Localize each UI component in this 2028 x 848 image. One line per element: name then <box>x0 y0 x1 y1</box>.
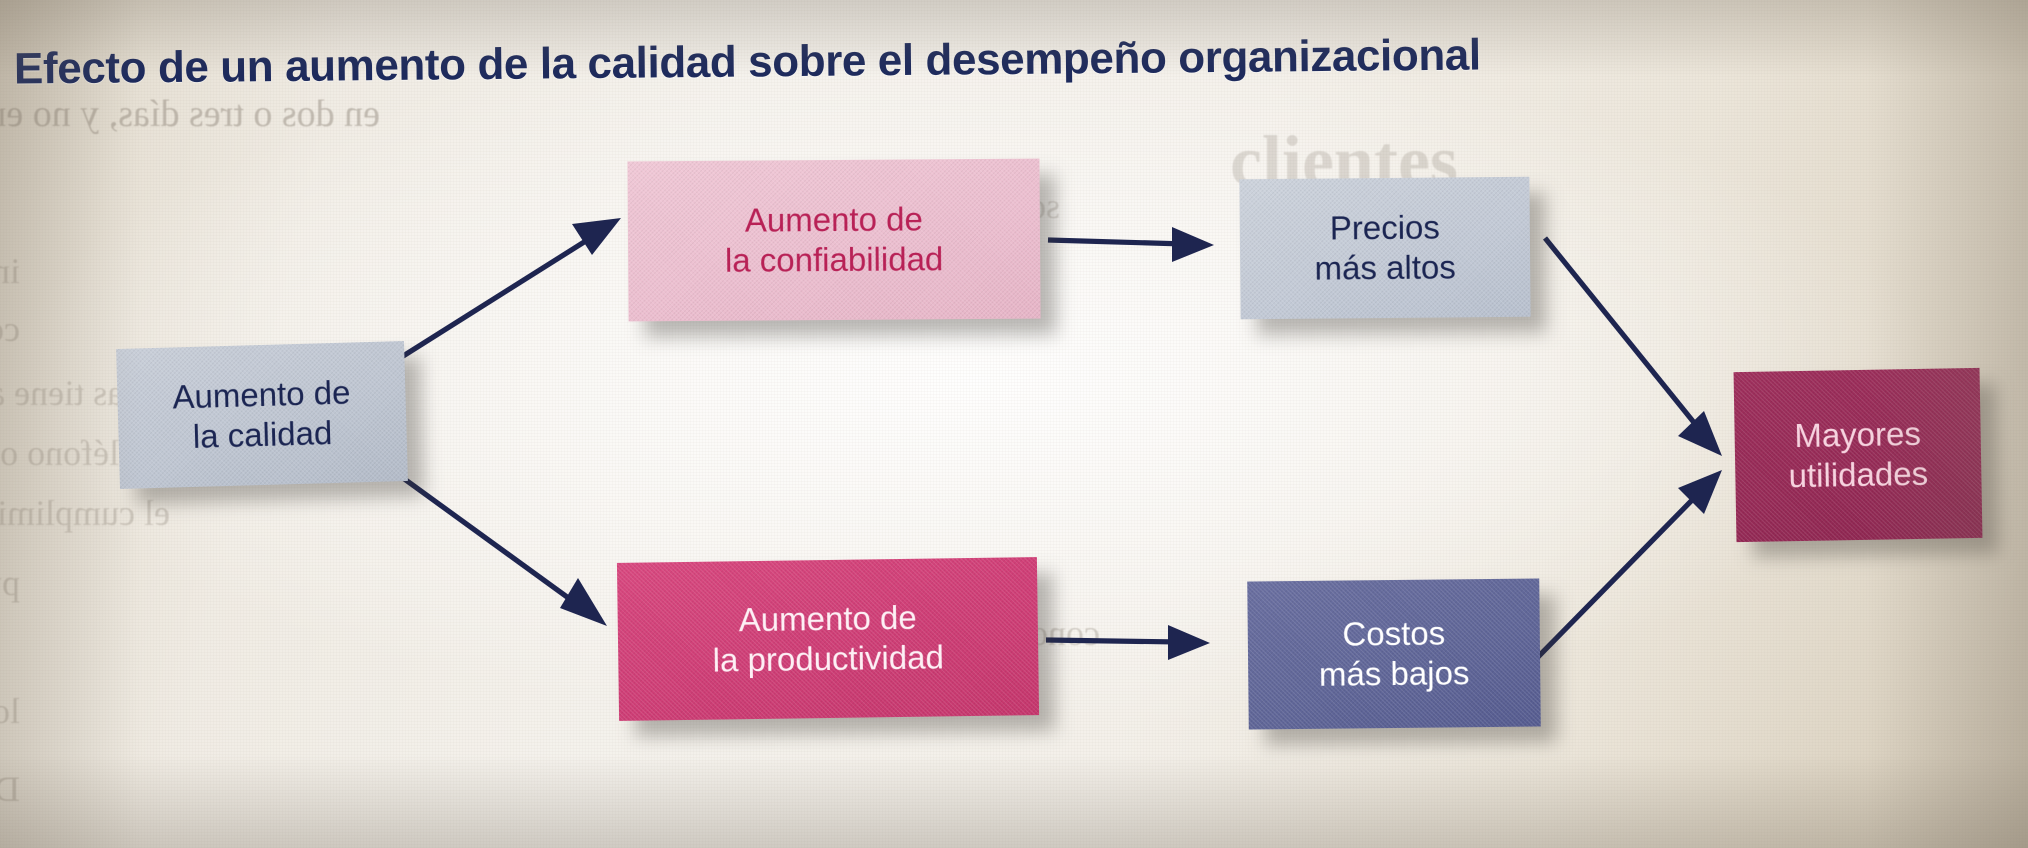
node-aumento-de-la-productividad[interactable]: Aumento de la productividad <box>617 557 1039 721</box>
node-label: Aumento de la calidad <box>172 372 352 457</box>
node-label-line-1: Mayores <box>1794 415 1921 454</box>
node-mayores-utilidades[interactable]: Mayores utilidades <box>1734 368 1983 542</box>
node-label-line-2: utilidades <box>1788 455 1928 494</box>
figure-page: en dos o tres días, y no en 10, como ocu… <box>0 0 2028 848</box>
node-label: Aumento de la confiabilidad <box>725 199 944 281</box>
node-label-line-1: Aumento de <box>738 599 916 638</box>
node-label-line-1: Costos <box>1342 614 1445 652</box>
node-label-line-2: más altos <box>1314 248 1456 286</box>
node-label-line-2: la calidad <box>192 414 332 455</box>
node-aumento-de-la-calidad[interactable]: Aumento de la calidad <box>116 341 408 489</box>
node-label: Costos más bajos <box>1318 613 1469 695</box>
node-label: Mayores utilidades <box>1788 414 1929 497</box>
node-label: Aumento de la productividad <box>712 597 944 681</box>
node-label-line-1: Precios <box>1330 208 1440 246</box>
node-costos-mas-bajos[interactable]: Costos más bajos <box>1247 578 1541 729</box>
node-label-line-2: la confiabilidad <box>725 240 944 279</box>
node-label-line-1: Aumento de <box>172 373 351 415</box>
node-aumento-de-la-confiabilidad[interactable]: Aumento de la confiabilidad <box>627 159 1040 322</box>
node-label-line-1: Aumento de <box>745 200 923 238</box>
node-label-line-2: la productividad <box>712 638 944 678</box>
node-label: Precios más altos <box>1314 207 1456 289</box>
node-precios-mas-altos[interactable]: Precios más altos <box>1239 177 1530 320</box>
node-label-line-2: más bajos <box>1319 654 1470 693</box>
